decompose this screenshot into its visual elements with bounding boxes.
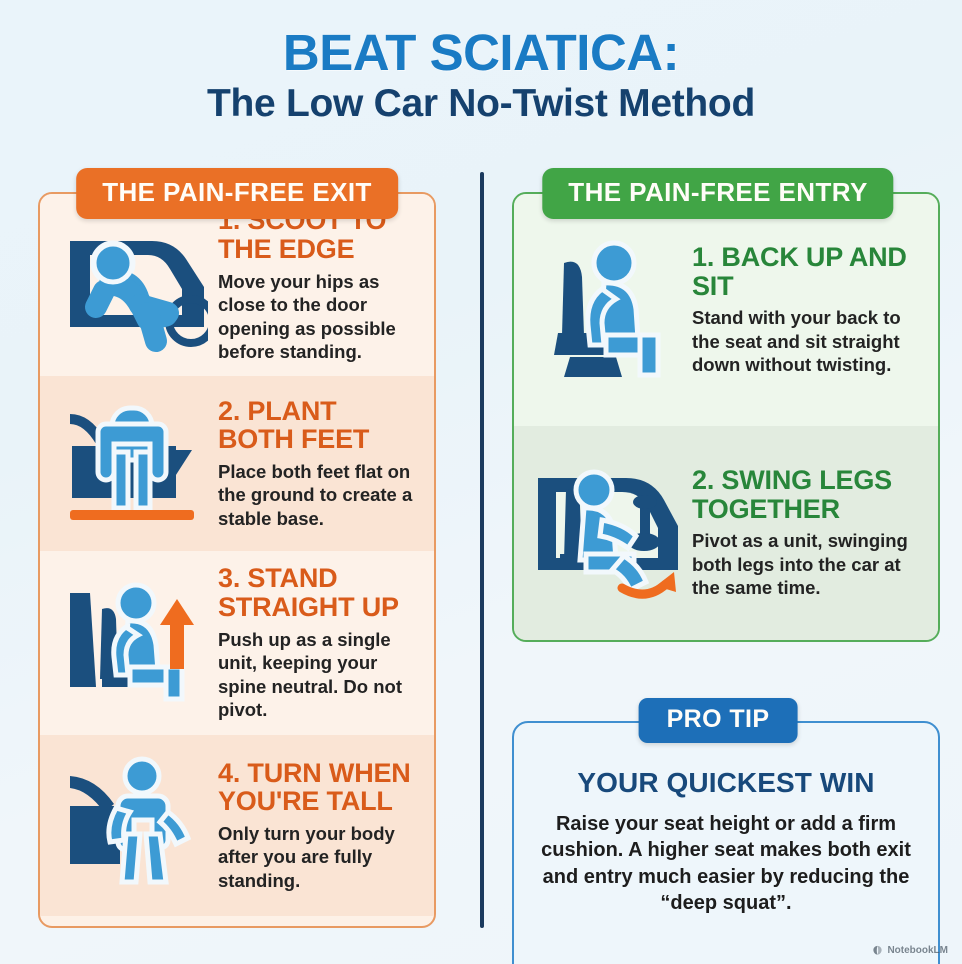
entry-step-1-text: 1. BACK UP AND SIT Stand with your back … xyxy=(692,243,922,377)
entry-step-2-title: 2. SWING LEGS TOGETHER xyxy=(692,466,920,523)
entry-step-2: 2. SWING LEGS TOGETHER Pivot as a unit, … xyxy=(514,426,938,640)
exit-step-3-title: 3. STAND STRAIGHT UP xyxy=(218,564,416,621)
page-header: BEAT SCIATICA: The Low Car No-Twist Meth… xyxy=(0,0,962,127)
exit-step-3: 3. STAND STRAIGHT UP Push up as a single… xyxy=(40,551,434,735)
exit-panel: 1. SCOOT TO THE EDGE Move your hips as c… xyxy=(38,192,436,928)
entry-step-2-desc: Pivot as a unit, swinging both legs into… xyxy=(692,529,920,599)
protip-body: YOUR QUICKEST WIN Raise your seat height… xyxy=(514,723,938,917)
exit-step-4: 4. TURN WHEN YOU'RE TALL Only turn your … xyxy=(40,735,434,916)
page-title-sub: The Low Car No-Twist Method xyxy=(0,81,962,127)
watermark-label: NotebookLM xyxy=(887,945,948,956)
exit-step-1-text: 1. SCOOT TO THE EDGE Move your hips as c… xyxy=(218,206,418,363)
back-up-and-sit-icon xyxy=(526,235,686,385)
exit-step-3-desc: Push up as a single unit, keeping your s… xyxy=(218,628,416,722)
exit-step-2-title: 2. PLANT BOTH FEET xyxy=(218,397,416,454)
entry-section-header: THE PAIN-FREE ENTRY xyxy=(542,168,893,219)
seated-stand-up-arrow-icon xyxy=(52,568,212,718)
standing-turn-icon xyxy=(52,751,212,901)
exit-section-header: THE PAIN-FREE EXIT xyxy=(76,168,398,219)
protip-panel: YOUR QUICKEST WIN Raise your seat height… xyxy=(512,721,940,964)
exit-step-3-text: 3. STAND STRAIGHT UP Push up as a single… xyxy=(218,564,418,721)
entry-step-2-text: 2. SWING LEGS TOGETHER Pivot as a unit, … xyxy=(692,466,922,600)
car-door-scoot-icon xyxy=(52,210,212,360)
exit-step-4-title: 4. TURN WHEN YOU'RE TALL xyxy=(218,759,416,816)
notebooklm-icon xyxy=(872,945,883,956)
exit-column: THE PAIN-FREE EXIT xyxy=(0,168,474,928)
exit-step-4-text: 4. TURN WHEN YOU'RE TALL Only turn your … xyxy=(218,759,418,893)
protip-heading: YOUR QUICKEST WIN xyxy=(540,767,912,799)
page-title-main: BEAT SCIATICA: xyxy=(0,26,962,79)
exit-step-2-desc: Place both feet flat on the ground to cr… xyxy=(218,460,416,530)
entry-step-1: 1. BACK UP AND SIT Stand with your back … xyxy=(514,194,938,426)
exit-step-1-desc: Move your hips as close to the door open… xyxy=(218,270,416,364)
exit-step-2: 2. PLANT BOTH FEET Place both feet flat … xyxy=(40,376,434,551)
entry-panel: 1. BACK UP AND SIT Stand with your back … xyxy=(512,192,940,642)
entry-column: THE PAIN-FREE ENTRY xyxy=(474,168,962,928)
content-columns: THE PAIN-FREE EXIT xyxy=(0,168,962,928)
entry-step-1-title: 1. BACK UP AND SIT xyxy=(692,243,920,300)
protip-text: Raise your seat height or add a firm cus… xyxy=(540,811,912,917)
exit-step-1: 1. SCOOT TO THE EDGE Move your hips as c… xyxy=(40,194,434,376)
exit-step-2-text: 2. PLANT BOTH FEET Place both feet flat … xyxy=(218,397,418,531)
entry-step-1-desc: Stand with your back to the seat and sit… xyxy=(692,306,920,376)
exit-step-4-desc: Only turn your body after you are fully … xyxy=(218,822,416,892)
watermark: NotebookLM xyxy=(872,945,948,956)
protip-section-header: PRO TIP xyxy=(639,698,798,743)
standing-feet-planted-icon xyxy=(52,389,212,539)
swing-legs-into-car-icon xyxy=(526,458,686,608)
